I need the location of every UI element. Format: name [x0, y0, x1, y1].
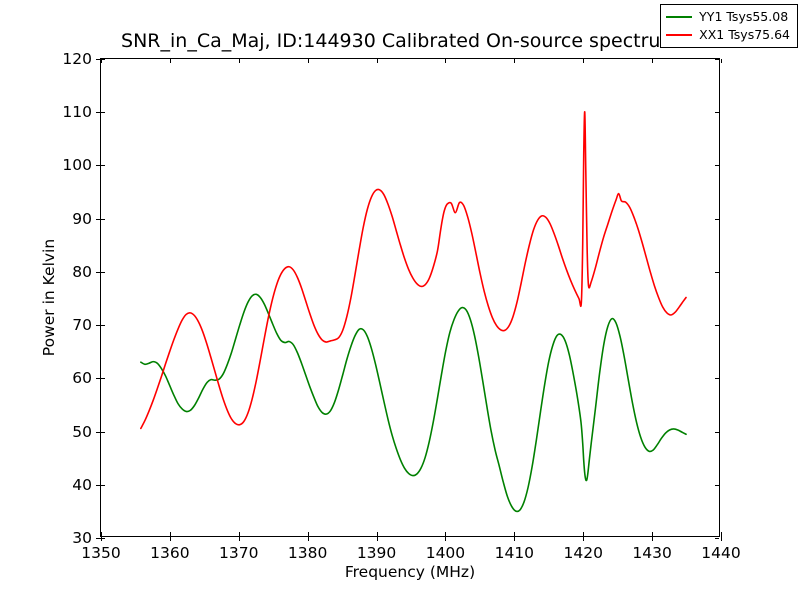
x-tick-mark-inner [445, 532, 446, 536]
x-tick-mark-top [308, 59, 309, 63]
x-tick-mark-top [377, 59, 378, 63]
x-tick-mark-top [583, 59, 584, 63]
y-tick-mark-right [715, 219, 719, 220]
x-tick-label: 1350 [81, 544, 120, 562]
y-tick-label: 60 [72, 369, 92, 387]
x-tick-mark-inner [377, 532, 378, 536]
x-tick-mark-inner [583, 532, 584, 536]
y-tick-mark-inner [101, 325, 105, 326]
legend-item-label: YY1 Tsys55.08 [699, 11, 788, 24]
x-tick-mark-inner [721, 532, 722, 536]
legend[interactable]: YY1 Tsys55.08XX1 Tsys75.64 [660, 4, 798, 48]
data-series-line [141, 294, 686, 511]
x-tick-mark-top [170, 59, 171, 63]
x-tick-label: 1440 [701, 544, 740, 562]
legend-color-swatch [666, 34, 692, 36]
y-tick-mark-right [715, 272, 719, 273]
x-tick-mark [308, 536, 309, 541]
legend-item[interactable]: YY1 Tsys55.08 [666, 9, 790, 25]
y-axis-title: Power in Kelvin [40, 58, 58, 537]
x-tick-mark [721, 536, 722, 541]
legend-color-swatch [666, 16, 692, 18]
y-tick-label: 70 [72, 316, 92, 334]
plot-area[interactable]: 3040506070809010011012013501360137013801… [100, 58, 720, 537]
y-tick-label: 90 [72, 210, 92, 228]
y-tick-mark-inner [101, 165, 105, 166]
x-tick-label: 1370 [219, 544, 258, 562]
chart-lines [101, 59, 719, 536]
y-tick-label: 40 [72, 476, 92, 494]
y-tick-label: 50 [72, 423, 92, 441]
x-tick-label: 1390 [357, 544, 396, 562]
y-tick-mark-inner [101, 112, 105, 113]
y-tick-label: 120 [62, 50, 92, 68]
x-tick-label: 1380 [288, 544, 327, 562]
x-tick-label: 1400 [426, 544, 465, 562]
x-tick-mark [652, 536, 653, 541]
x-tick-mark-inner [239, 532, 240, 536]
x-axis-title: Frequency (MHz) [100, 563, 720, 581]
x-tick-mark-inner [308, 532, 309, 536]
y-tick-mark-right [715, 112, 719, 113]
y-tick-mark-inner [101, 378, 105, 379]
y-tick-mark-inner [101, 485, 105, 486]
x-tick-mark-top [101, 59, 102, 63]
y-tick-label: 110 [62, 103, 92, 121]
legend-item-label: XX1 Tsys75.64 [699, 29, 790, 42]
y-tick-mark-right [715, 165, 719, 166]
x-tick-mark [101, 536, 102, 541]
y-tick-mark-inner [101, 219, 105, 220]
x-tick-mark-inner [170, 532, 171, 536]
y-tick-label: 80 [72, 263, 92, 281]
y-tick-mark-inner [101, 432, 105, 433]
y-tick-label: 100 [62, 156, 92, 174]
y-tick-mark-inner [101, 272, 105, 273]
y-tick-mark-right [715, 325, 719, 326]
x-tick-mark [514, 536, 515, 541]
x-tick-mark [583, 536, 584, 541]
x-tick-label: 1410 [495, 544, 534, 562]
y-tick-mark-right [715, 538, 719, 539]
figure-canvas: SNR_in_Ca_Maj, ID:144930 Calibrated On-s… [0, 0, 800, 600]
x-tick-mark [170, 536, 171, 541]
x-tick-mark-inner [101, 532, 102, 536]
x-tick-label: 1360 [150, 544, 189, 562]
x-tick-mark-top [239, 59, 240, 63]
y-tick-mark-right [715, 378, 719, 379]
y-tick-mark-right [715, 59, 719, 60]
x-tick-mark-inner [652, 532, 653, 536]
y-tick-mark-right [715, 432, 719, 433]
x-tick-label: 1420 [563, 544, 602, 562]
x-tick-mark-top [514, 59, 515, 63]
x-tick-mark-top [652, 59, 653, 63]
x-tick-mark [377, 536, 378, 541]
legend-item[interactable]: XX1 Tsys75.64 [666, 27, 790, 43]
x-tick-mark-top [445, 59, 446, 63]
x-tick-mark [239, 536, 240, 541]
x-tick-mark [445, 536, 446, 541]
y-tick-mark-right [715, 485, 719, 486]
data-series-line [141, 112, 686, 429]
x-tick-mark-inner [514, 532, 515, 536]
x-tick-label: 1430 [632, 544, 671, 562]
x-tick-mark-top [721, 59, 722, 63]
